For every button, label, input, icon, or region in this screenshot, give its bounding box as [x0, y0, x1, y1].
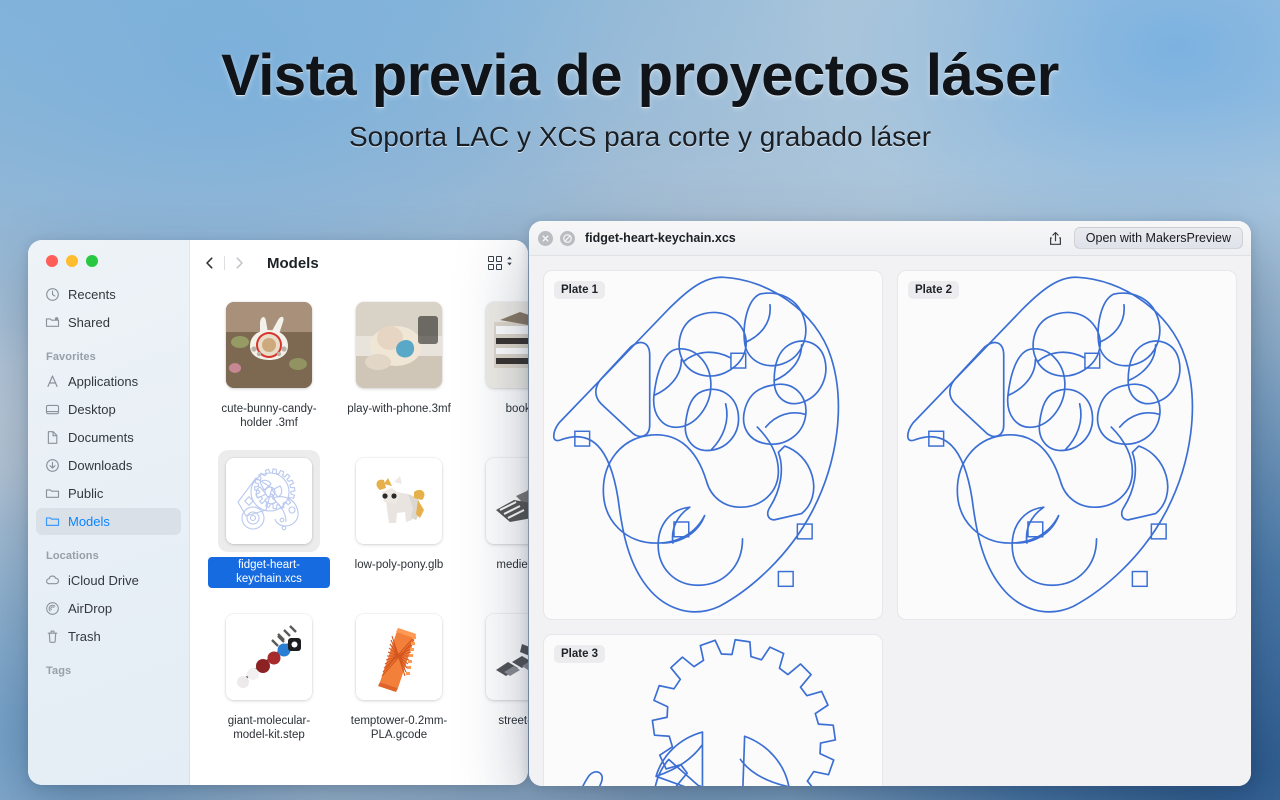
sidebar-item-label: Desktop — [68, 402, 116, 417]
finder-toolbar: Models — [190, 240, 528, 286]
file-thumbnail-wrap — [478, 450, 528, 552]
sidebar-item-label: Public — [68, 486, 103, 501]
file-thumbnail-wrap — [478, 606, 528, 708]
plate-label: Plate 2 — [908, 281, 959, 299]
sidebar-item-recents[interactable]: Recents — [36, 281, 181, 308]
minimize-window-button[interactable] — [66, 255, 78, 267]
file-item[interactable]: medieval-cat — [464, 450, 528, 606]
maximize-window-button[interactable] — [86, 255, 98, 267]
sidebar-group-title-tags: Tags — [36, 651, 181, 682]
file-thumbnail-wrap — [348, 606, 450, 708]
folder-icon — [44, 486, 60, 502]
sidebar-item-icloud-drive[interactable]: iCloud Drive — [36, 567, 181, 594]
applications-icon — [44, 374, 60, 390]
file-name-label: fidget-heart-keychain.xcs — [208, 557, 330, 588]
sidebar-item-label: Downloads — [68, 458, 132, 473]
file-item[interactable]: giant-molecular-model-kit.step — [204, 606, 334, 762]
file-grid: cute-bunny-candy-holder .3mf — [190, 286, 528, 785]
file-thumbnail-wrap — [218, 606, 320, 708]
cloud-icon — [44, 573, 60, 589]
file-thumbnail-wrap — [218, 294, 320, 396]
model-streetlamp-thumbnail — [486, 614, 528, 700]
chevron-updown-icon — [505, 254, 514, 273]
finder-content-area: Models — [190, 240, 528, 785]
photo-bookcover-thumbnail — [486, 302, 528, 388]
sidebar-item-trash[interactable]: Trash — [36, 623, 181, 650]
toolbar-divider — [224, 256, 225, 270]
forward-button[interactable] — [227, 252, 251, 274]
close-window-button[interactable] — [46, 255, 58, 267]
sidebar-group-title-favorites: Favorites — [36, 337, 181, 368]
share-icon[interactable] — [1045, 227, 1067, 249]
plate-panel[interactable]: Plate 1 — [543, 270, 883, 620]
sidebar-item-label: Documents — [68, 430, 134, 445]
model-molecule-thumbnail — [226, 614, 312, 700]
file-name-label: cute-bunny-candy-holder .3mf — [208, 401, 330, 432]
sidebar-item-shared[interactable]: Shared — [36, 309, 181, 336]
file-name-label: low-poly-pony.glb — [351, 557, 448, 573]
file-thumbnail-wrap — [478, 294, 528, 396]
window-traffic-lights[interactable] — [36, 240, 181, 267]
close-circle-icon[interactable] — [538, 231, 553, 246]
sidebar-item-label: Shared — [68, 315, 110, 330]
plate-label: Plate 1 — [554, 281, 605, 299]
file-item[interactable]: temptower-0.2mm-PLA.gcode — [334, 606, 464, 762]
desktop-background: Vista previa de proyectos láser Soporta … — [0, 0, 1280, 800]
file-thumbnail-wrap — [218, 450, 320, 552]
quicklook-titlebar: fidget-heart-keychain.xcs Open with Make… — [529, 221, 1251, 256]
open-with-makerspreview-button[interactable]: Open with MakersPreview — [1074, 227, 1243, 249]
sidebar-item-downloads[interactable]: Downloads — [36, 452, 181, 479]
file-name-label: medieval-cat — [492, 557, 528, 573]
no-entry-circle-icon[interactable] — [560, 231, 575, 246]
photo-bunny-thumbnail — [226, 302, 312, 388]
quicklook-plates-area: Plate 1 — [529, 256, 1251, 786]
quicklook-preview-window[interactable]: fidget-heart-keychain.xcs Open with Make… — [529, 221, 1251, 786]
photo-baby-thumbnail — [356, 302, 442, 388]
file-name-label: play-with-phone.3mf — [343, 401, 455, 417]
sidebar-item-documents[interactable]: Documents — [36, 424, 181, 451]
sidebar-item-label: Recents — [68, 287, 116, 302]
plate-panel[interactable]: Plate 2 — [897, 270, 1237, 620]
file-name-label: giant-molecular-model-kit.step — [208, 713, 330, 744]
sidebar-item-label: Models — [68, 514, 110, 529]
download-icon — [44, 458, 60, 474]
back-button[interactable] — [198, 252, 222, 274]
model-temptower-thumbnail — [356, 614, 442, 700]
sidebar-item-desktop[interactable]: Desktop — [36, 396, 181, 423]
sidebar-item-label: iCloud Drive — [68, 573, 139, 588]
page-subtitle: Soporta LAC y XCS para corte y grabado l… — [0, 121, 1280, 153]
sidebar-group-title-locations: Locations — [36, 536, 181, 567]
file-thumbnail-wrap — [348, 450, 450, 552]
file-item[interactable]: street-lamp- — [464, 606, 528, 762]
file-item[interactable]: low-poly-pony.glb — [334, 450, 464, 606]
grid-view-icon — [488, 256, 502, 270]
finder-path-title: Models — [267, 255, 319, 272]
file-item[interactable]: play-with-phone.3mf — [334, 294, 464, 450]
sidebar-item-airdrop[interactable]: AirDrop — [36, 595, 181, 622]
sidebar-item-label: Trash — [68, 629, 101, 644]
airdrop-icon — [44, 601, 60, 617]
file-name-label: temptower-0.2mm-PLA.gcode — [338, 713, 460, 744]
trash-icon — [44, 629, 60, 645]
plate-panel[interactable]: Plate 3 — [543, 634, 883, 786]
folder-icon — [44, 514, 60, 530]
sidebar-item-applications[interactable]: Applications — [36, 368, 181, 395]
sidebar-item-label: AirDrop — [68, 601, 112, 616]
page-title: Vista previa de proyectos láser — [0, 46, 1280, 107]
file-item[interactable]: book-cov — [464, 294, 528, 450]
sidebar-item-models[interactable]: Models — [36, 508, 181, 535]
view-options-button[interactable] — [488, 254, 514, 273]
sidebar-item-public[interactable]: Public — [36, 480, 181, 507]
file-name-label: book-cov — [502, 401, 528, 417]
vector-gears-thumbnail — [226, 458, 312, 544]
clock-icon — [44, 287, 60, 303]
finder-window[interactable]: Recents Shared Favorites Applications — [28, 240, 528, 785]
document-icon — [44, 430, 60, 446]
navigation-buttons[interactable] — [198, 252, 251, 274]
quicklook-filename: fidget-heart-keychain.xcs — [585, 231, 736, 245]
desktop-icon — [44, 402, 60, 418]
hero-text-block: Vista previa de proyectos láser Soporta … — [0, 46, 1280, 153]
sidebar-top-group: Recents Shared — [36, 267, 181, 336]
shared-folder-icon — [44, 315, 60, 331]
model-pony-thumbnail — [356, 458, 442, 544]
file-item[interactable]: cute-bunny-candy-holder .3mf — [204, 294, 334, 450]
file-item-selected[interactable]: fidget-heart-keychain.xcs — [204, 450, 334, 606]
plate-2-vector-art — [898, 271, 1236, 619]
file-thumbnail-wrap — [348, 294, 450, 396]
model-medieval-thumbnail — [486, 458, 528, 544]
file-name-label: street-lamp- — [494, 713, 528, 729]
plate-label: Plate 3 — [554, 645, 605, 663]
finder-sidebar: Recents Shared Favorites Applications — [28, 240, 190, 785]
sidebar-item-label: Applications — [68, 374, 138, 389]
plate-1-vector-art — [544, 271, 882, 619]
